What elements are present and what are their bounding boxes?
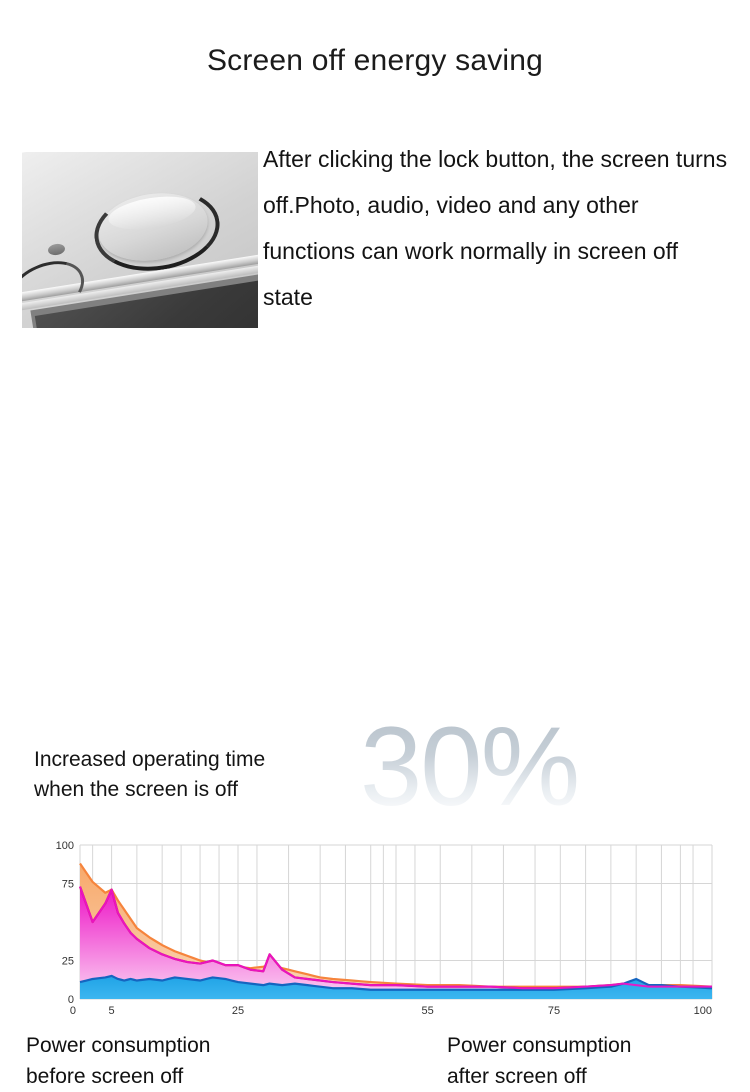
caption-after-screen-off: Power consumption after screen off	[447, 1030, 747, 1092]
promo-page: Screen off energy saving After clicking …	[0, 0, 750, 750]
chart-section: 30% Increased operating time when the sc…	[0, 355, 750, 750]
chart-heading: Increased operating time when the screen…	[34, 745, 374, 805]
chart-heading-line2: when the screen is off	[34, 775, 374, 805]
watermark-30-percent: 30%	[360, 717, 578, 817]
x-tick-0: 0	[70, 1005, 76, 1017]
caption-left-line2: before screen off	[26, 1061, 326, 1092]
feature-description: After clicking the lock button, the scre…	[263, 136, 731, 320]
photo-inner	[22, 152, 258, 328]
y-tick-100: 100	[56, 840, 74, 852]
page-title: Screen off energy saving	[0, 44, 750, 78]
lock-button-photo	[22, 152, 258, 328]
y-tick-75: 75	[62, 879, 74, 891]
area-chart-svg: 0257510005255575100	[0, 837, 750, 1022]
caption-before-screen-off: Power consumption before screen off	[26, 1030, 326, 1092]
x-tick-55: 55	[421, 1005, 433, 1017]
caption-right-line1: Power consumption	[447, 1030, 747, 1061]
x-tick-100: 100	[694, 1005, 712, 1017]
x-tick-75: 75	[548, 1005, 560, 1017]
caption-right-line2: after screen off	[447, 1061, 747, 1092]
y-tick-25: 25	[62, 956, 74, 968]
x-tick-5: 5	[109, 1005, 115, 1017]
area-chart: 0257510005255575100	[0, 837, 750, 1022]
caption-left-line1: Power consumption	[26, 1030, 326, 1061]
x-tick-25: 25	[232, 1005, 244, 1017]
